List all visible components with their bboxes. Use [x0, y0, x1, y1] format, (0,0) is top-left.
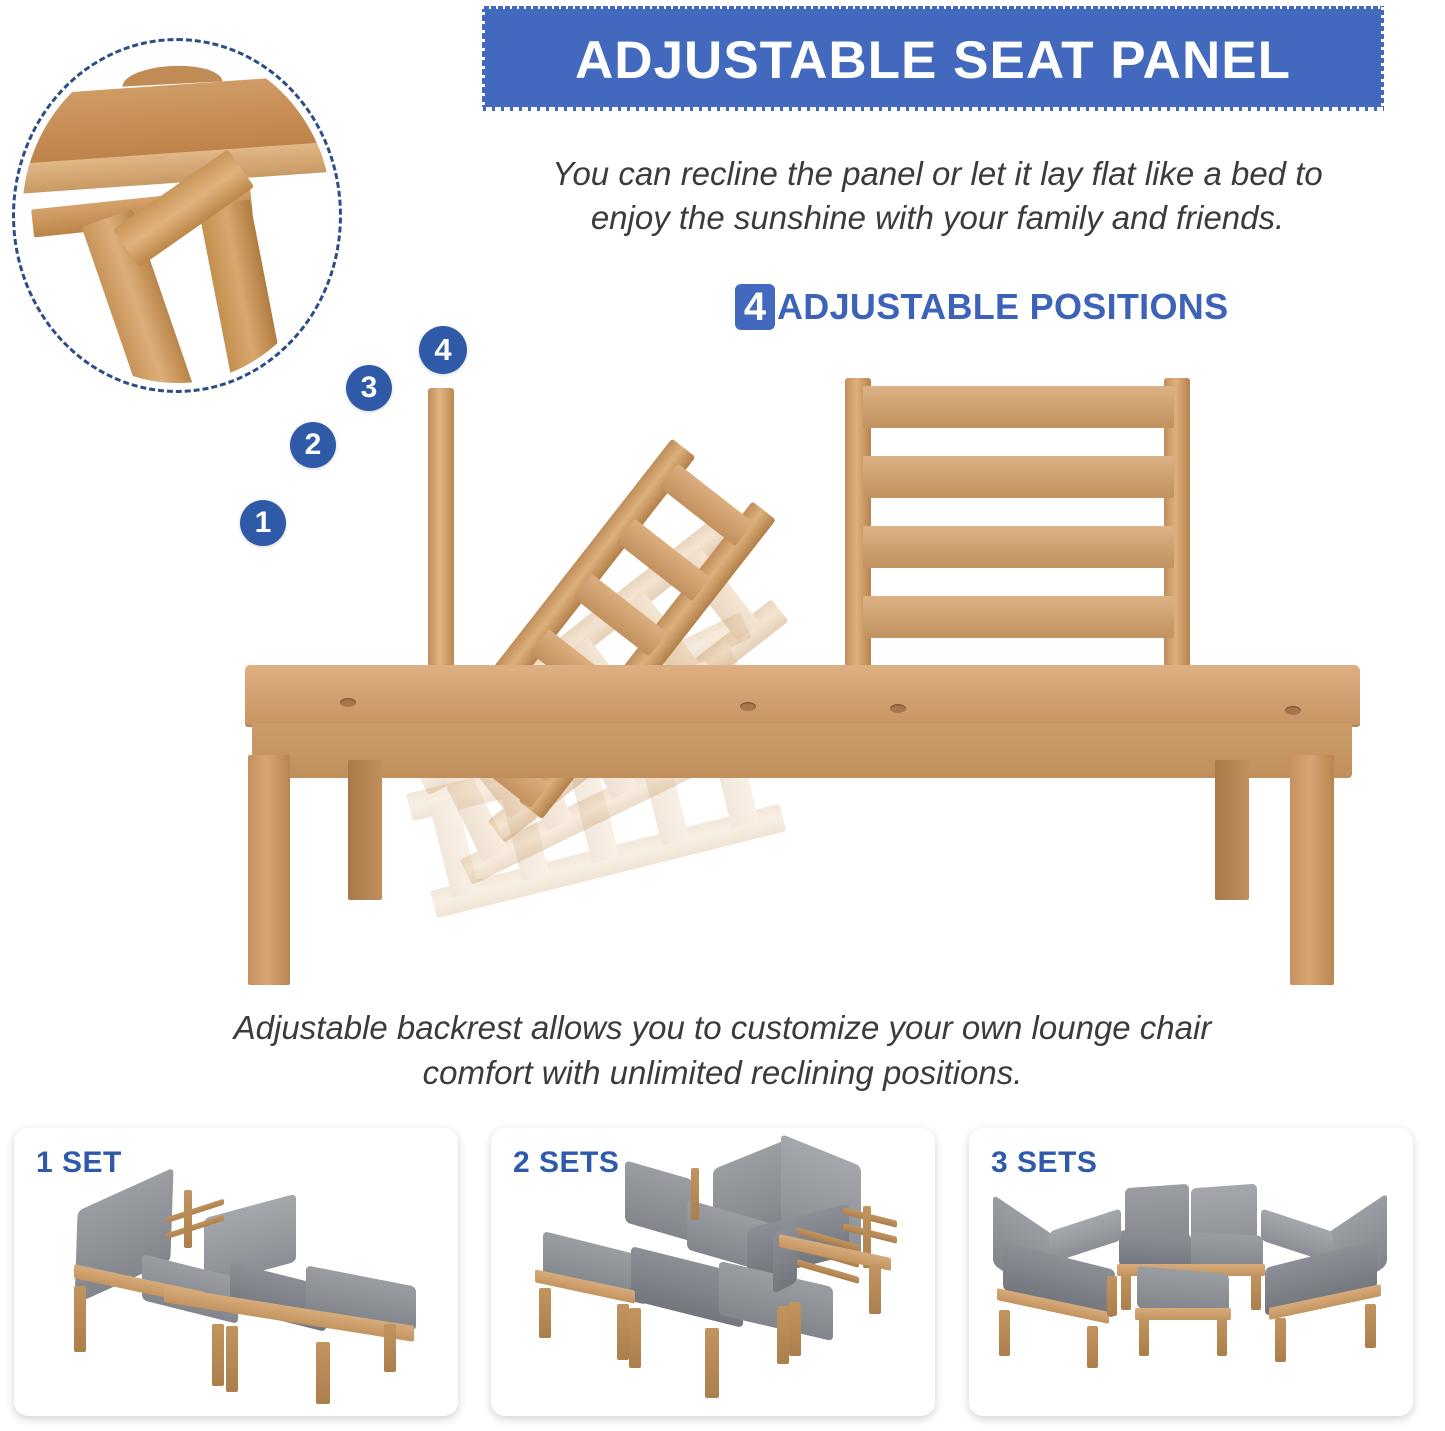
config-card-3-sets[interactable]: 3 SETS [969, 1128, 1413, 1416]
bottom-caption: Adjustable backrest allows you to custom… [150, 1006, 1295, 1095]
frame-leg [777, 1306, 789, 1364]
page-title: ADJUSTABLE SEAT PANEL [575, 34, 1291, 87]
frame-leg [212, 1324, 224, 1386]
frame-leg [384, 1324, 396, 1372]
card-1-label: 1 SET [36, 1146, 122, 1180]
ottoman-leg [1139, 1318, 1149, 1356]
frame-leg [789, 1302, 801, 1356]
panel-rung [573, 574, 667, 657]
positions-label: ADJUSTABLE POSITIONS [777, 286, 1228, 328]
frame-leg [999, 1310, 1010, 1356]
frame-leg [617, 1304, 629, 1360]
config-card-1-set[interactable]: 1 SET [14, 1128, 458, 1416]
frame-leg-front-left [248, 755, 290, 985]
seat-frame-apron [252, 723, 1352, 778]
frame-leg [316, 1342, 330, 1404]
frame-leg [74, 1286, 86, 1352]
backrest-slat [863, 596, 1174, 638]
subtitle-line-2: enjoy the sunshine with your family and … [470, 196, 1405, 240]
frame-leg [1121, 1274, 1131, 1310]
frame-post [691, 1168, 699, 1220]
frame-peg-hole [890, 704, 906, 713]
frame-leg [1087, 1326, 1098, 1368]
banner-rough-top-edge [482, 3, 1384, 9]
ottoman-leg [1217, 1318, 1227, 1356]
header-banner: ADJUSTABLE SEAT PANEL [482, 6, 1384, 114]
frame-leg [629, 1308, 641, 1368]
positions-count-badge: 4 [735, 284, 775, 330]
frame-leg [226, 1326, 238, 1392]
panel-rung [659, 463, 753, 546]
backrest-slat [863, 456, 1174, 498]
product-illustration [230, 330, 1390, 1010]
panel-rung [616, 519, 710, 602]
seat-frame-top-rail [245, 665, 1360, 727]
fixed-backrest-right [845, 378, 1190, 670]
side-cushion [625, 1160, 693, 1241]
banner-rough-left-edge [479, 6, 485, 114]
caption-line-2: comfort with unlimited reclining positio… [150, 1051, 1295, 1096]
bolster-cushion [773, 1222, 797, 1294]
adjustable-panel-pivot-post [428, 388, 454, 678]
subtitle-line-1: You can recline the panel or let it lay … [470, 152, 1405, 196]
subtitle-text: You can recline the panel or let it lay … [470, 152, 1405, 239]
frame-post [184, 1190, 192, 1248]
card-2-label: 2 SETS [513, 1146, 619, 1180]
configuration-cards: 1 SET [14, 1128, 1432, 1418]
adjustable-positions-heading: 4 ADJUSTABLE POSITIONS [735, 283, 1228, 331]
backrest-slat [863, 386, 1174, 428]
caption-line-1: Adjustable backrest allows you to custom… [150, 1006, 1295, 1051]
frame-peg-hole [340, 698, 356, 707]
frame-leg [1365, 1304, 1376, 1348]
banner-rough-right-edge [1381, 6, 1387, 114]
backrest-slat [863, 526, 1174, 568]
frame-leg [869, 1266, 881, 1314]
frame-leg [1275, 1318, 1286, 1362]
frame-leg [539, 1288, 551, 1338]
card-3-label: 3 SETS [991, 1146, 1097, 1180]
frame-leg [1251, 1274, 1261, 1310]
frame-leg [1107, 1276, 1117, 1316]
infographic-root: ADJUSTABLE SEAT PANEL You can recline th… [0, 0, 1445, 1431]
config-card-2-sets[interactable]: 2 SETS [491, 1128, 935, 1416]
frame-leg-front-right [1290, 755, 1334, 985]
frame-peg-hole [740, 702, 756, 711]
frame-leg-back-left [348, 760, 382, 900]
frame-peg-hole [1285, 706, 1301, 715]
frame-leg-back-right [1215, 760, 1249, 900]
frame-leg [705, 1328, 719, 1398]
